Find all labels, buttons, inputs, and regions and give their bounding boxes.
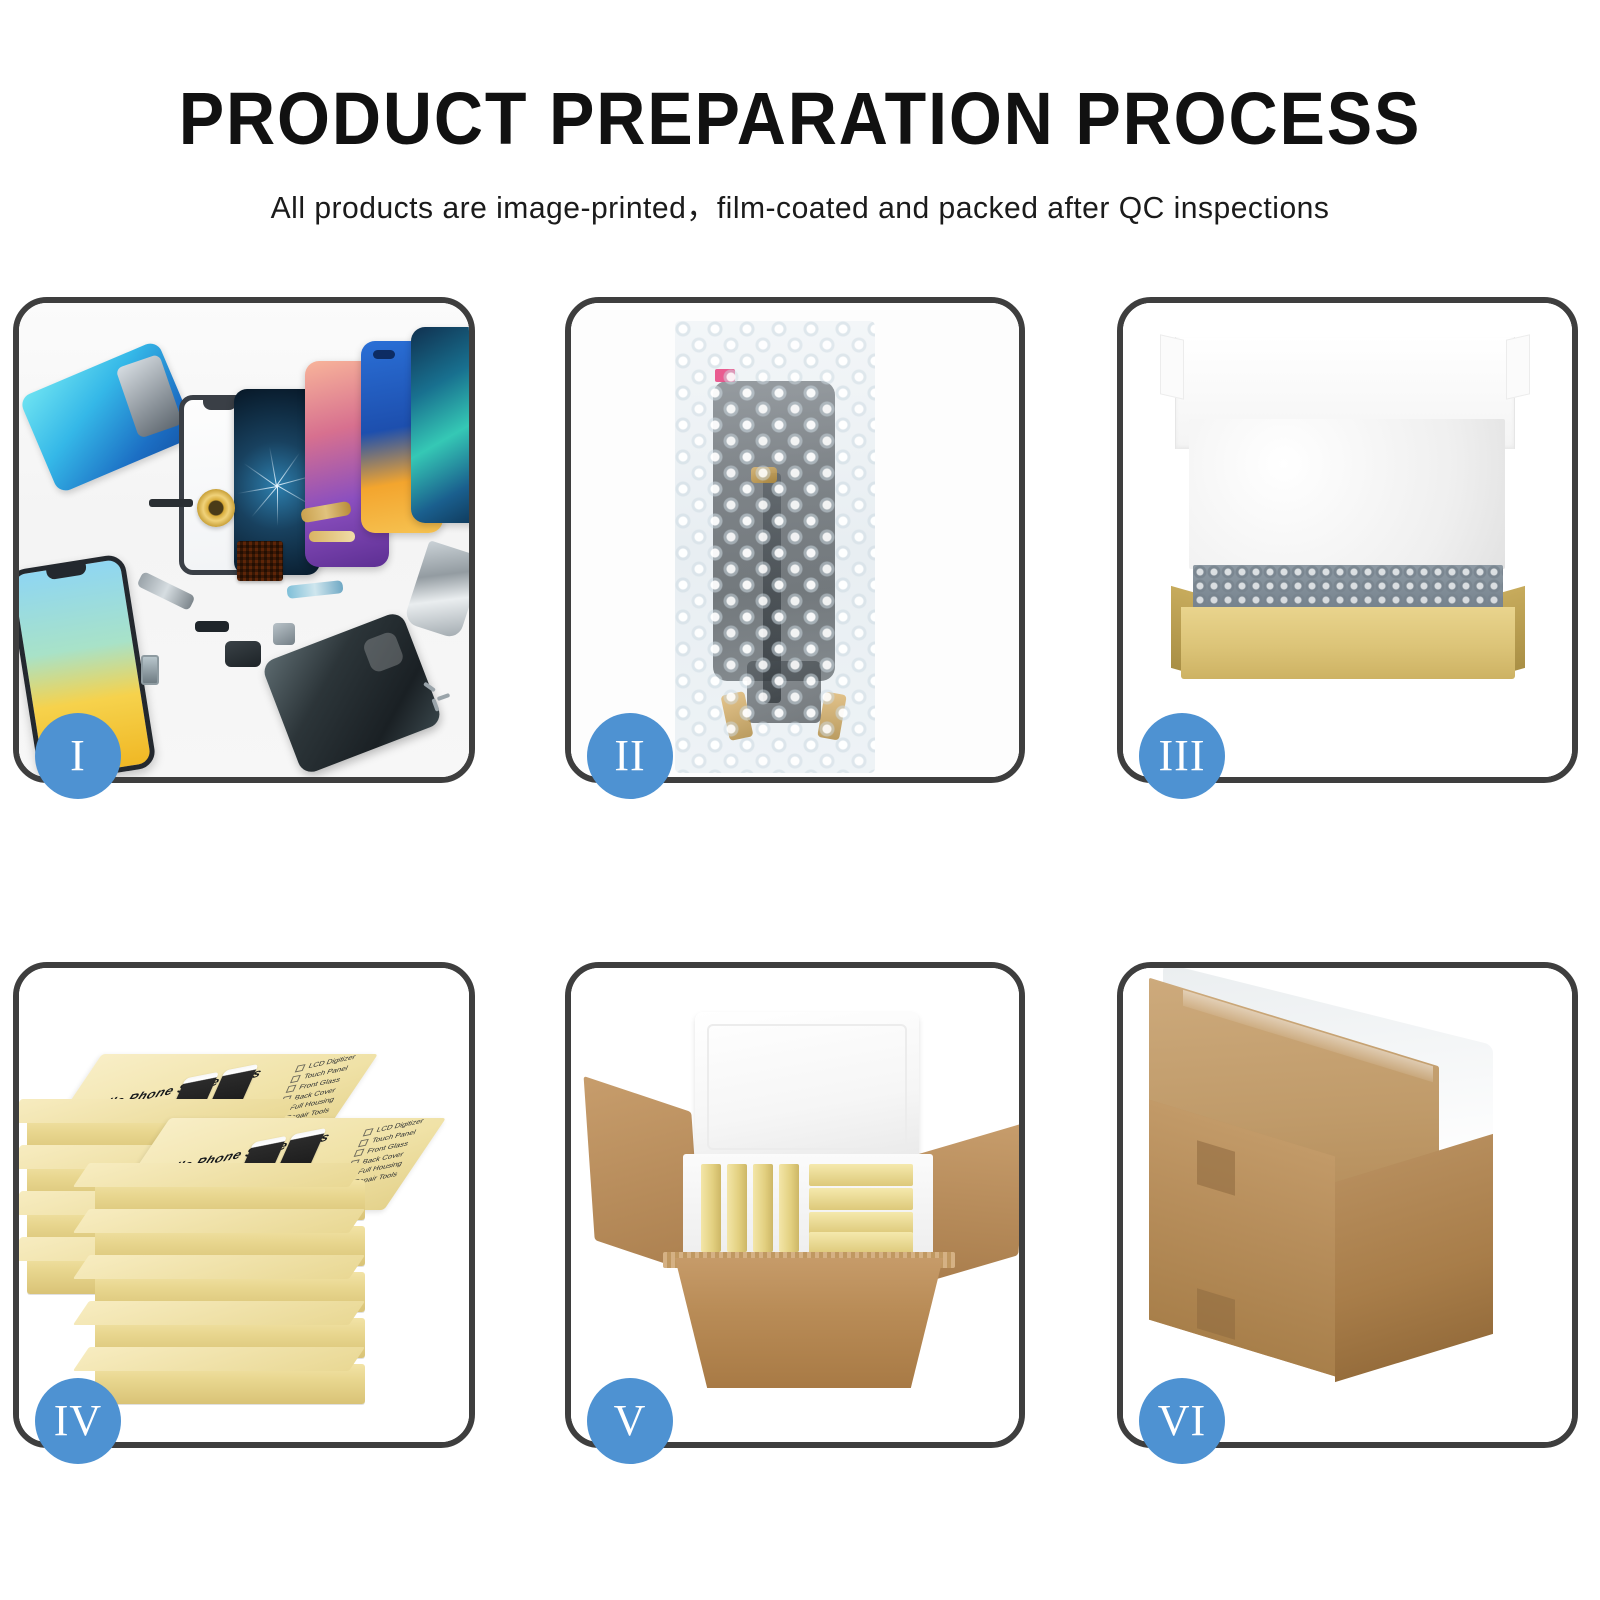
step-6-image [1123, 968, 1572, 1442]
wireless-charging-coil-icon [197, 489, 235, 527]
screws-icon [423, 683, 463, 709]
process-step-card-2[interactable]: II [565, 297, 1025, 783]
sim-tray-icon [141, 655, 159, 685]
step-badge-1: I [35, 713, 121, 799]
box-front-panel-icon [1181, 607, 1515, 679]
earpiece-mesh-icon [149, 499, 193, 507]
battery-connector-icon [195, 621, 229, 632]
bubble-texture [675, 321, 875, 773]
step-4-image: Mobile Phone Spare Parts LCD Digitizer T… [19, 968, 469, 1442]
process-step-card-5[interactable]: V [565, 962, 1025, 1448]
carton-body-icon [675, 1258, 943, 1388]
step-badge-6: VI [1139, 1378, 1225, 1464]
step-5-image [571, 968, 1019, 1442]
process-step-card-3[interactable]: III [1117, 297, 1578, 783]
ic-chip-icon [237, 541, 283, 581]
loudspeaker-icon [225, 641, 261, 667]
wave-display-phone-icon [411, 327, 469, 523]
vibrator-motor-icon [273, 623, 295, 645]
step-badge-5: V [587, 1378, 673, 1464]
step-2-image [571, 303, 1019, 777]
retail-box [95, 1364, 365, 1404]
foam-sheet-icon [1189, 419, 1505, 569]
infographic-page: PRODUCT PREPARATION PROCESS All products… [0, 0, 1600, 1600]
step-badge-2: II [587, 713, 673, 799]
step-3-image [1123, 303, 1572, 777]
process-step-card-1[interactable]: I [13, 297, 475, 783]
step-badge-3: III [1139, 713, 1225, 799]
step-badge-4: IV [35, 1378, 121, 1464]
packed-retail-boxes-icon [701, 1164, 915, 1252]
process-step-card-4[interactable]: Mobile Phone Spare Parts LCD Digitizer T… [13, 962, 475, 1448]
process-step-card-6[interactable]: VI [1117, 962, 1578, 1448]
bubble-wrap-bag-icon [675, 321, 875, 773]
process-step-grid: I II [0, 0, 1600, 1600]
power-flex-icon [309, 531, 355, 542]
foam-box-lid-icon [695, 1012, 919, 1162]
step-1-image [19, 303, 469, 777]
